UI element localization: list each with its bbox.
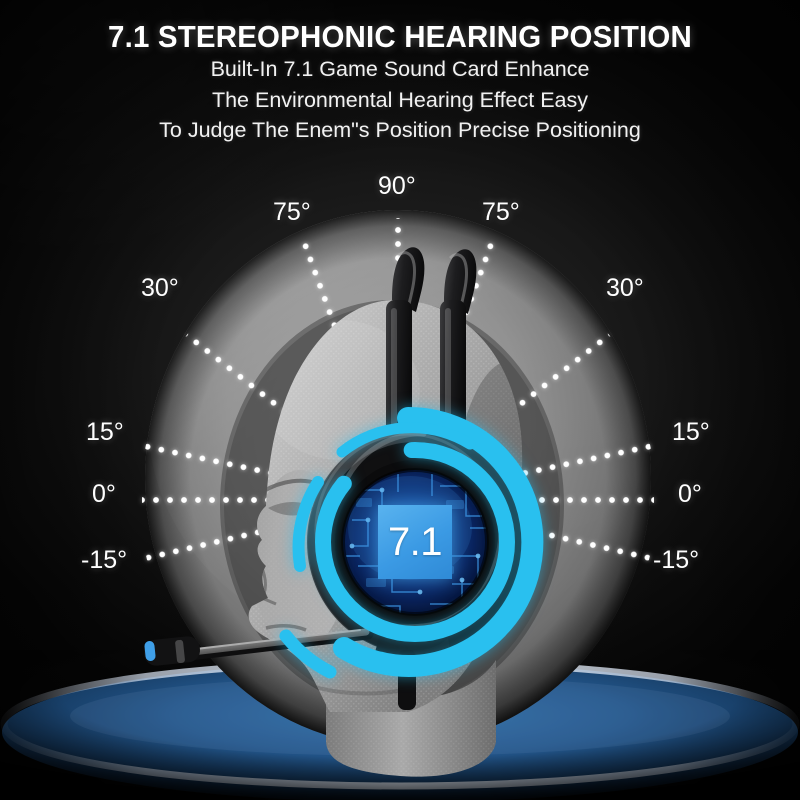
angle-label-75-left: 75° [273, 198, 311, 227]
product-feature-banner: 7.1 90° 75° 75° 30° 30° 15° 15° 0° 0° -1… [0, 0, 800, 800]
subtitle-line-2: The Environmental Hearing Effect Easy [0, 85, 800, 116]
lower-left-accent-arc [286, 636, 330, 672]
angle-label-75-right: 75° [482, 198, 520, 227]
left-accent-arc [299, 482, 318, 566]
header-block: 7.1 STEREOPHONIC HEARING POSITION Built-… [0, 0, 800, 146]
subtitle-line-3: To Judge The Enem"s Position Precise Pos… [0, 115, 800, 146]
angle-label-90: 90° [378, 172, 416, 201]
seven-one-badge: 7.1 [378, 505, 452, 579]
subtitle-line-1: Built-In 7.1 Game Sound Card Enhance [0, 54, 800, 85]
angle-label-0-left: 0° [92, 480, 116, 509]
angle-label-30-right: 30° [606, 274, 644, 303]
angle-label-30-left: 30° [141, 274, 179, 303]
angle-label-neg15-right: -15° [653, 546, 699, 575]
badge-value: 7.1 [388, 522, 442, 562]
angle-label-15-left: 15° [86, 418, 124, 447]
page-title: 7.1 STEREOPHONIC HEARING POSITION [20, 20, 780, 54]
angle-label-neg15-left: -15° [81, 546, 127, 575]
angle-label-0-right: 0° [678, 480, 702, 509]
angle-label-15-right: 15° [672, 418, 710, 447]
